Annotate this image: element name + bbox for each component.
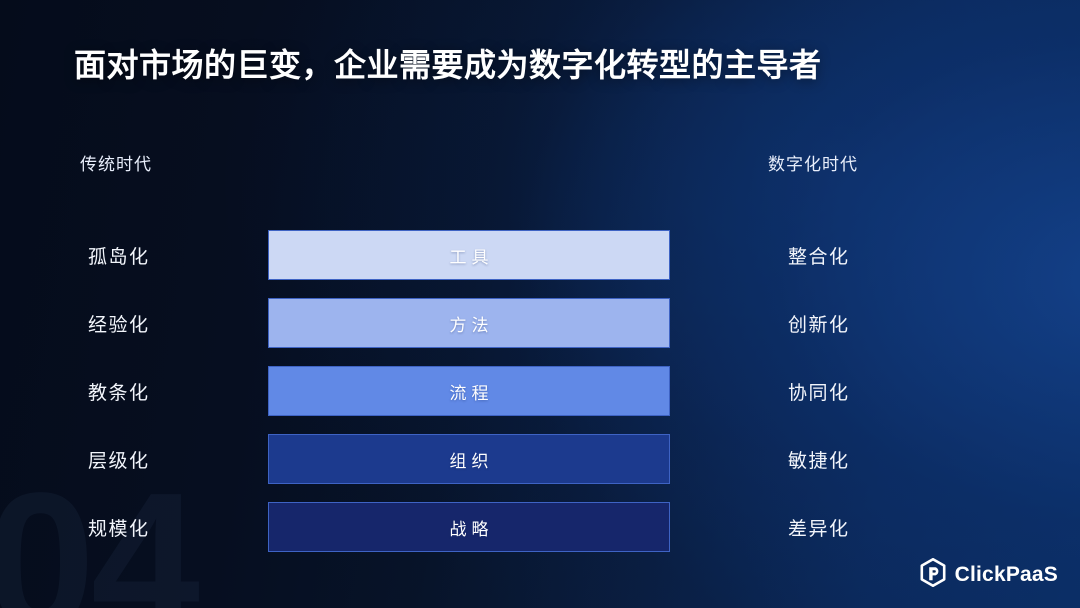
layer-bar-label: 方法 [445,311,494,336]
table-row: 经验化 方法 创新化 [0,298,1080,348]
row-label-traditional: 孤岛化 [88,230,150,280]
brand-name: ClickPaaS [955,563,1058,587]
layer-bar-method[interactable]: 方法 [268,298,670,348]
table-row: 教条化 流程 协同化 [0,366,1080,416]
column-header-traditional: 传统时代 [80,150,152,175]
brand-logo: ClickPaaS [920,558,1058,592]
row-label-digital: 协同化 [788,366,850,416]
row-label-traditional: 教条化 [88,366,150,416]
layer-bar-label: 流程 [445,379,494,404]
layer-bar-label: 组织 [445,447,494,472]
row-label-digital: 敏捷化 [788,434,850,484]
table-row: 层级化 组织 敏捷化 [0,434,1080,484]
layer-bar-label: 工具 [445,243,494,268]
row-label-traditional: 层级化 [88,434,150,484]
slide-canvas: 04 面对市场的巨变，企业需要成为数字化转型的主导者 传统时代 数字化时代 孤岛… [0,0,1080,608]
layer-bar-organization[interactable]: 组织 [268,434,670,484]
page-title: 面对市场的巨变，企业需要成为数字化转型的主导者 [74,40,822,86]
comparison-rows: 孤岛化 工具 整合化 经验化 方法 创新化 教条化 流程 协同化 层级化 组织 [0,230,1080,552]
table-row: 孤岛化 工具 整合化 [0,230,1080,280]
row-label-digital: 整合化 [788,230,850,280]
layer-bar-tool[interactable]: 工具 [268,230,670,280]
row-label-digital: 差异化 [788,502,850,552]
hexagon-logo-icon [920,558,946,592]
table-row: 规模化 战略 差异化 [0,502,1080,552]
layer-bar-strategy[interactable]: 战略 [268,502,670,552]
column-header-digital: 数字化时代 [768,150,858,175]
layer-bar-label: 战略 [445,515,494,540]
layer-bar-process[interactable]: 流程 [268,366,670,416]
row-label-traditional: 规模化 [88,502,150,552]
row-label-digital: 创新化 [788,298,850,348]
row-label-traditional: 经验化 [88,298,150,348]
